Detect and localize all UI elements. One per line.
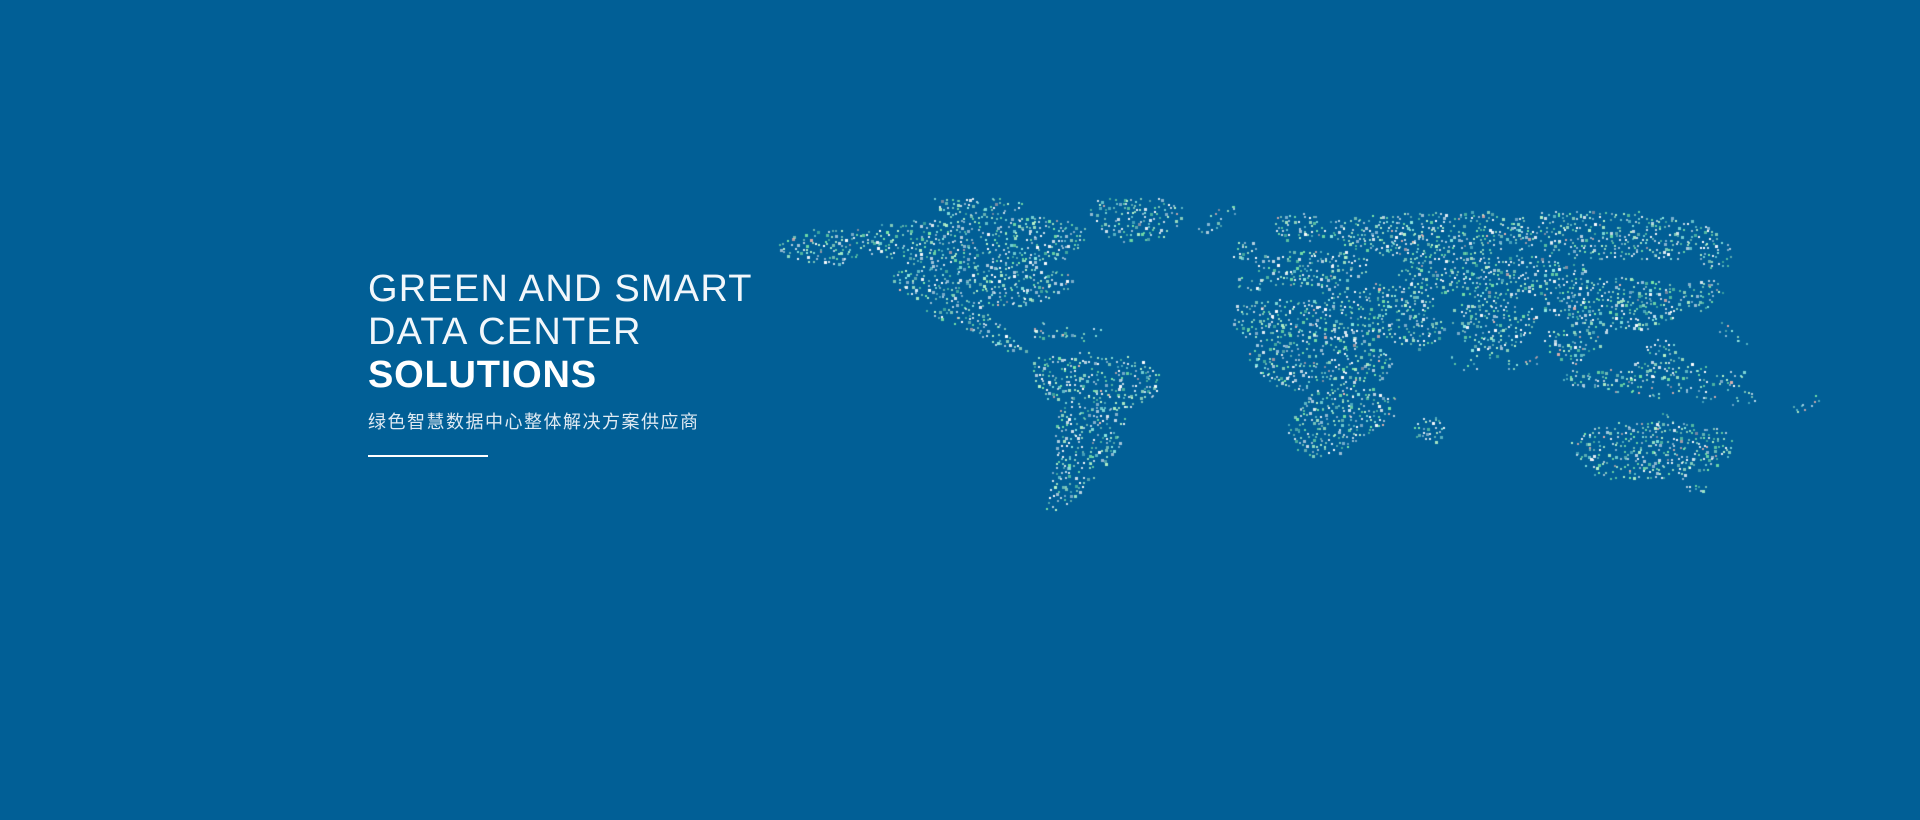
hero-subtitle-chinese: 绿色智慧数据中心整体解决方案供应商 — [368, 411, 928, 433]
headline-line-3: SOLUTIONS — [368, 354, 928, 397]
headline-line-2: DATA CENTER — [368, 311, 928, 354]
accent-rule-divider — [368, 455, 488, 457]
world-map-canvas — [0, 0, 1920, 820]
hero-text-block: GREEN AND SMART DATA CENTER SOLUTIONS 绿色… — [368, 268, 928, 457]
hero-banner: GREEN AND SMART DATA CENTER SOLUTIONS 绿色… — [0, 0, 1920, 820]
headline-line-1: GREEN AND SMART — [368, 268, 928, 311]
world-map-graphic — [0, 0, 1920, 820]
